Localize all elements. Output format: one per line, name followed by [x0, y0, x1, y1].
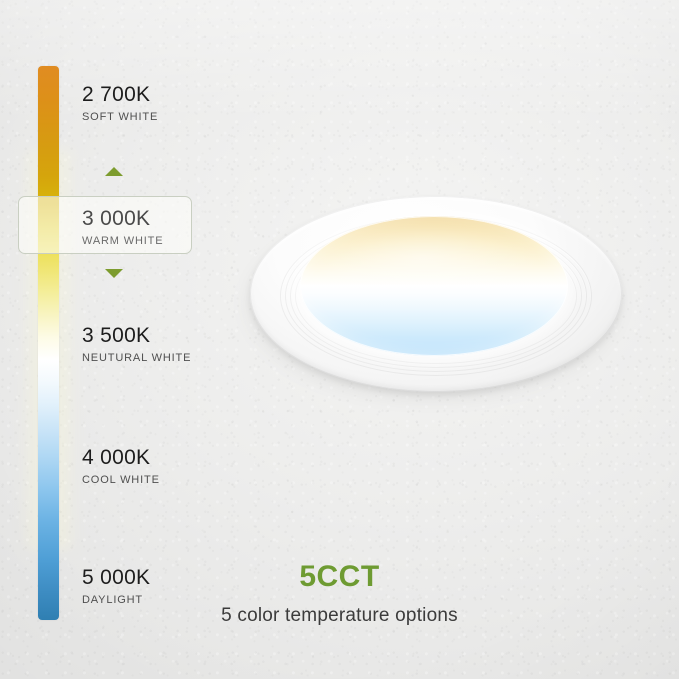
- caption-subtitle: 5 color temperature options: [0, 605, 679, 627]
- cct-stop-name: SOFT WHITE: [82, 112, 158, 123]
- downlight-lens-rim: [300, 216, 568, 356]
- cct-stop-2700k[interactable]: 2 700K SOFT WHITE: [82, 84, 158, 123]
- caption-title: 5CCT: [0, 560, 679, 594]
- cct-stop-kelvin: 3 000K: [82, 208, 163, 229]
- cct-stop-kelvin: 2 700K: [82, 84, 158, 105]
- color-temperature-gradient-bar: [38, 66, 59, 620]
- triangle-down-icon[interactable]: [105, 269, 123, 278]
- cct-stop-4000k[interactable]: 4 000K COOL WHITE: [82, 447, 160, 486]
- cct-stop-kelvin: 3 500K: [82, 325, 191, 346]
- recessed-downlight-product: [232, 186, 632, 410]
- cct-product-infographic: 2 700K SOFT WHITE 3 000K WARM WHITE 3 50…: [0, 0, 679, 679]
- cct-stop-kelvin: 4 000K: [82, 447, 160, 468]
- cct-stop-name: COOL WHITE: [82, 475, 160, 486]
- triangle-up-icon[interactable]: [105, 167, 123, 176]
- cct-stop-name: WARM WHITE: [82, 236, 163, 247]
- cct-stop-name: NEUTURAL WHITE: [82, 353, 191, 364]
- cct-stop-3500k[interactable]: 3 500K NEUTURAL WHITE: [82, 325, 191, 364]
- cct-stop-3000k[interactable]: 3 000K WARM WHITE: [82, 208, 163, 247]
